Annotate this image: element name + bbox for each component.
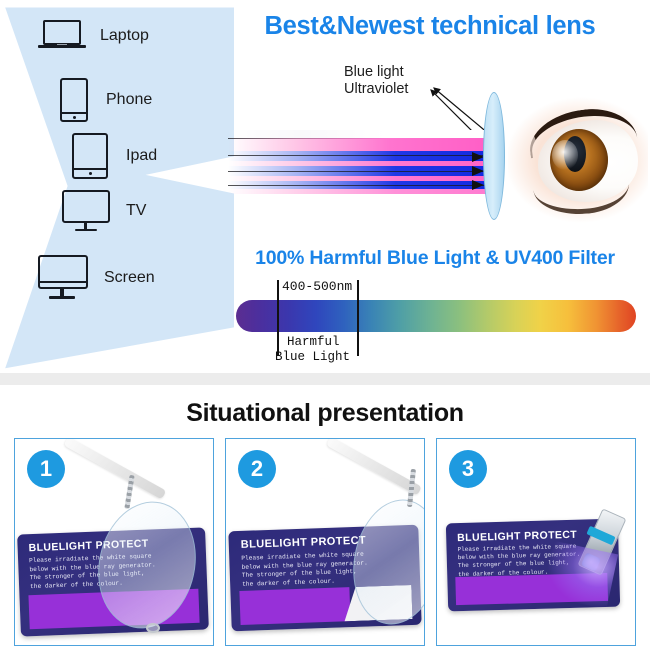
screen-icon xyxy=(38,255,88,301)
ray-blue-1 xyxy=(228,151,490,161)
blue-ray-generator-rod xyxy=(64,438,167,500)
filter-subtitle: 100% Harmful Blue Light & UV400 Filter xyxy=(222,247,648,270)
page-title: Best&Newest technical lens xyxy=(215,12,645,41)
panel-badge-3: 3 xyxy=(449,450,487,488)
device-row-tv: TV xyxy=(62,190,146,232)
situational-panel-3[interactable]: 3 BLUELIGHT PROTECT Please irradiate the… xyxy=(436,438,636,646)
ray-white xyxy=(228,130,490,138)
bottom-section: Situational presentation 1 BLUELIGHT PRO… xyxy=(0,385,650,650)
top-section: Laptop Phone Ipad TV xyxy=(0,0,650,373)
section-divider xyxy=(0,373,650,385)
tv-icon xyxy=(62,190,110,232)
device-label-tv: TV xyxy=(126,202,146,220)
device-row-laptop: Laptop xyxy=(38,18,149,54)
spectrum-gradient-bar xyxy=(236,300,636,332)
callout-line-blue-light: Blue light xyxy=(344,64,408,81)
spectrum-tick-right xyxy=(357,280,359,356)
ipad-icon xyxy=(72,133,108,179)
infographic-page: Laptop Phone Ipad TV xyxy=(0,0,650,650)
eye-photo xyxy=(508,96,648,224)
light-ray-beams xyxy=(228,130,490,192)
spectrum-tick-left xyxy=(277,280,279,356)
spectrum-range-label: 400-500nm xyxy=(282,279,352,294)
blue-light-callout: Blue light Ultraviolet xyxy=(344,64,408,98)
phone-icon xyxy=(60,78,88,122)
device-row-screen: Screen xyxy=(38,255,155,301)
situational-panel-2[interactable]: 2 BLUELIGHT PROTECT Please irradiate the… xyxy=(225,438,425,646)
device-label-screen: Screen xyxy=(104,269,155,287)
situational-panel-1[interactable]: 1 BLUELIGHT PROTECT Please irradiate the… xyxy=(14,438,214,646)
panel-gallery: 1 BLUELIGHT PROTECT Please irradiate the… xyxy=(14,438,636,646)
section-title: Situational presentation xyxy=(0,399,650,428)
device-row-phone: Phone xyxy=(60,78,152,122)
laptop-icon xyxy=(38,18,86,54)
card-body: Please irradiate the white square below … xyxy=(241,551,368,590)
harmful-line-1: Harmful xyxy=(287,335,340,349)
device-label-phone: Phone xyxy=(106,91,152,109)
device-label-laptop: Laptop xyxy=(100,27,149,45)
card-title: BLUELIGHT PROTECT xyxy=(241,535,367,551)
harmful-line-2: Blue Light xyxy=(275,350,350,365)
blue-ray-generator-rod xyxy=(326,438,422,496)
callout-line-ultraviolet: Ultraviolet xyxy=(344,81,408,98)
spectrum-harmful-label: Harmful Blue Light xyxy=(287,335,350,365)
spectrum-diagram: 400-500nm Harmful Blue Light xyxy=(230,278,642,370)
ray-pink-1 xyxy=(228,138,490,151)
device-panel-background xyxy=(0,0,260,372)
panel-badge-2: 2 xyxy=(238,450,276,488)
device-label-ipad: Ipad xyxy=(126,147,157,165)
ray-pink-4 xyxy=(228,189,490,194)
chain-loop-icon xyxy=(146,623,160,633)
device-row-ipad: Ipad xyxy=(72,133,157,179)
panel-badge-1: 1 xyxy=(27,450,65,488)
lens-shape xyxy=(483,92,505,220)
card-purple-swatch xyxy=(239,587,350,625)
